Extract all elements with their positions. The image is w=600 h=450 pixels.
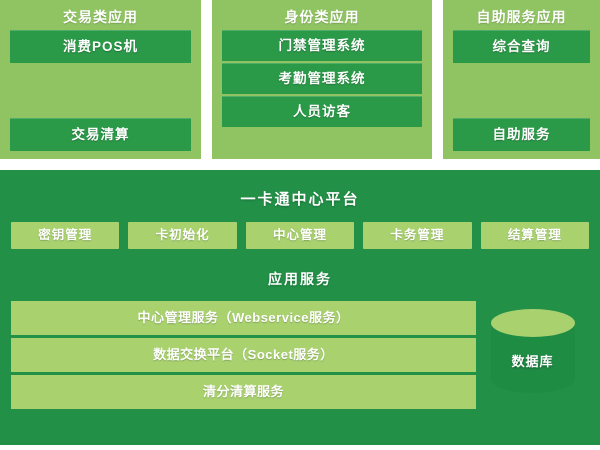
module-center-management[interactable]: 中心管理 [246, 222, 354, 249]
bottom-edge-strip [0, 445, 600, 450]
app-box-comprehensive-query[interactable]: 综合查询 [453, 30, 590, 63]
panel-identity-applications: 身份类应用 门禁管理系统 考勤管理系统 人员访客 [212, 0, 432, 159]
database-area: 数据库 [476, 298, 589, 412]
module-card-service-management[interactable]: 卡务管理 [363, 222, 471, 249]
panel-box-list-identity: 门禁管理系统 考勤管理系统 人员访客 [222, 30, 422, 151]
layer-divider [0, 159, 600, 170]
module-settlement-management[interactable]: 结算管理 [481, 222, 589, 249]
application-services-list: 中心管理服务（Webservice服务） 数据交换平台（Socket服务） 清分… [11, 301, 476, 409]
panel-box-list-transaction: 消费POS机 交易清算 [10, 30, 191, 151]
app-box-pos-terminal[interactable]: 消费POS机 [10, 30, 191, 63]
service-data-exchange-socket[interactable]: 数据交换平台（Socket服务） [11, 338, 476, 372]
panel-transaction-applications: 交易类应用 消费POS机 交易清算 [0, 0, 201, 159]
panel-divider-2 [432, 0, 443, 159]
database-label: 数据库 [491, 351, 575, 370]
app-box-self-service[interactable]: 自助服务 [453, 118, 590, 151]
application-services-area: 中心管理服务（Webservice服务） 数据交换平台（Socket服务） 清分… [0, 289, 600, 412]
app-box-transaction-settlement[interactable]: 交易清算 [10, 118, 191, 151]
app-box-access-control-system[interactable]: 门禁管理系统 [222, 30, 422, 61]
app-box-visitor-management[interactable]: 人员访客 [222, 96, 422, 127]
cylinder-top-ellipse [491, 309, 575, 337]
application-layer-row: 交易类应用 消费POS机 交易清算 身份类应用 门禁管理系统 考勤管理系统 人员… [0, 0, 600, 159]
service-center-management-webservice[interactable]: 中心管理服务（Webservice服务） [11, 301, 476, 335]
panel-title-selfservice: 自助服务应用 [453, 6, 590, 30]
module-key-management[interactable]: 密钥管理 [11, 222, 119, 249]
platform-module-list: 密钥管理 卡初始化 中心管理 卡务管理 结算管理 [0, 209, 600, 249]
panel-title-identity: 身份类应用 [222, 6, 422, 30]
panel-divider-1 [201, 0, 212, 159]
module-card-initialization[interactable]: 卡初始化 [128, 222, 236, 249]
panel-title-transaction: 交易类应用 [10, 6, 191, 30]
app-box-attendance-system[interactable]: 考勤管理系统 [222, 63, 422, 94]
database-cylinder-icon[interactable]: 数据库 [491, 309, 575, 401]
center-platform-section: 一卡通中心平台 密钥管理 卡初始化 中心管理 卡务管理 结算管理 应用服务 中心… [0, 170, 600, 445]
platform-title: 一卡通中心平台 [0, 170, 600, 209]
application-services-title: 应用服务 [0, 249, 600, 289]
panel-box-list-selfservice: 综合查询 自助服务 [453, 30, 590, 151]
panel-selfservice-applications: 自助服务应用 综合查询 自助服务 [443, 0, 600, 159]
service-clearing-settlement[interactable]: 清分清算服务 [11, 375, 476, 409]
